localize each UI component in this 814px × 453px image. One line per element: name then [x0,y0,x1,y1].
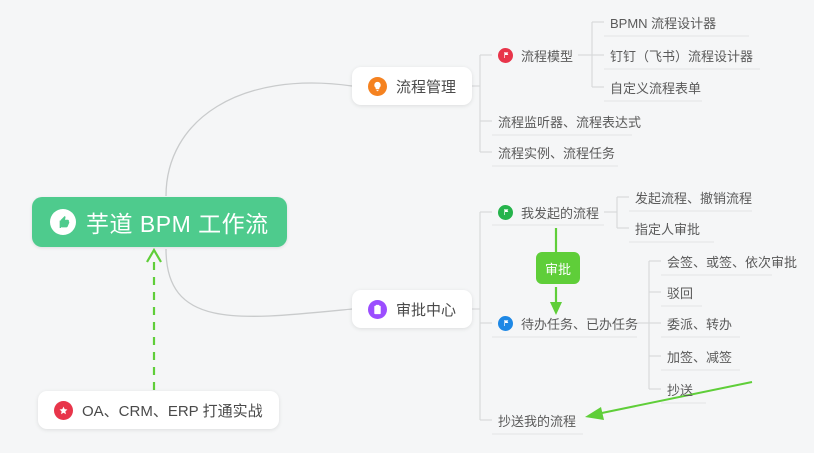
node-label: 流程实例、流程任务 [498,143,615,162]
approval-box-label: 审批 [545,259,571,278]
branch-label: 审批中心 [396,299,456,320]
node-process-model[interactable]: 流程模型 [492,40,581,70]
node-label: 待办任务、已办任务 [521,314,638,333]
node-my-initiated-processes[interactable]: 我发起的流程 [492,197,607,227]
node-todo-done-tasks[interactable]: 待办任务、已办任务 [492,308,646,338]
node-label: 加签、减签 [667,347,732,366]
node-bpmn-designer[interactable]: BPMN 流程设计器 [604,7,724,37]
node-label: 流程监听器、流程表达式 [498,112,641,131]
node-listener-expression[interactable]: 流程监听器、流程表达式 [492,106,649,136]
thumbs-up-icon [50,209,76,235]
flag-icon [498,48,513,63]
mindmap-canvas: 芋道 BPM 工作流 流程管理 流程模型 BPMN 流程设计器 钉钉（飞书）流程… [0,0,814,453]
node-label: 抄送 [667,380,693,399]
approval-highlight-box[interactable]: 审批 [536,252,580,284]
root-node[interactable]: 芋道 BPM 工作流 [32,197,287,247]
integration-node-label: OA、CRM、ERP 打通实战 [82,400,263,421]
node-label: 流程模型 [521,46,573,65]
node-instance-task[interactable]: 流程实例、流程任务 [492,137,623,167]
branch-label: 流程管理 [396,76,456,97]
star-icon [54,401,73,420]
branch-node-process-management[interactable]: 流程管理 [352,67,472,105]
node-label: 我发起的流程 [521,203,599,222]
integration-node[interactable]: OA、CRM、ERP 打通实战 [38,391,279,429]
node-dingtalk-feishu-designer[interactable]: 钉钉（飞书）流程设计器 [604,40,761,70]
clipboard-icon [368,300,387,319]
node-label: 钉钉（飞书）流程设计器 [610,46,753,65]
node-label: BPMN 流程设计器 [610,13,716,32]
integration-arrow [147,250,161,390]
node-assign-approver[interactable]: 指定人审批 [629,213,708,243]
node-start-cancel-process[interactable]: 发起流程、撤销流程 [629,182,760,212]
node-delegate-transfer[interactable]: 委派、转办 [661,308,740,338]
node-cc-to-me-processes[interactable]: 抄送我的流程 [492,405,584,435]
branch-node-approval-center[interactable]: 审批中心 [352,290,472,328]
node-label: 发起流程、撤销流程 [635,188,752,207]
node-custom-form[interactable]: 自定义流程表单 [604,72,709,102]
node-countersign[interactable]: 会签、或签、依次审批 [661,246,805,276]
node-label: 自定义流程表单 [610,78,701,97]
node-label: 会签、或签、依次审批 [667,252,797,271]
node-carbon-copy[interactable]: 抄送 [661,374,701,404]
lightbulb-pin-icon [368,77,387,96]
node-add-remove-sign[interactable]: 加签、减签 [661,341,740,371]
node-label: 指定人审批 [635,219,700,238]
node-label: 驳回 [667,283,693,302]
node-label: 抄送我的流程 [498,411,576,430]
node-reject[interactable]: 驳回 [661,277,701,307]
flag-icon [498,205,513,220]
node-label: 委派、转办 [667,314,732,333]
root-label: 芋道 BPM 工作流 [86,205,269,239]
flag-icon [498,316,513,331]
